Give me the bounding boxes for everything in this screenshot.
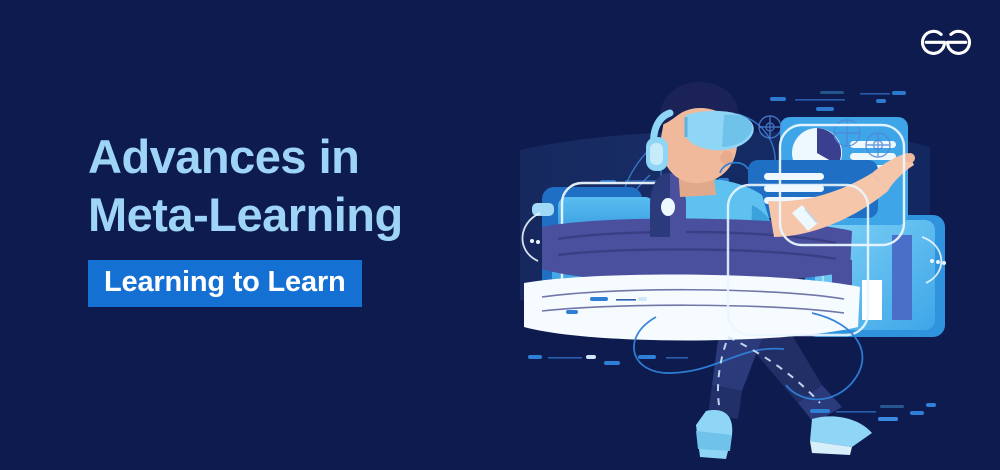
title-line-1: Advances in — [88, 128, 508, 186]
hero-illustration — [480, 55, 990, 465]
banner: Advances in Meta-Learning Learning to Le… — [0, 0, 1000, 470]
illustration-svg — [480, 55, 990, 465]
device-white — [524, 274, 860, 340]
headline-block: Advances in Meta-Learning Learning to Le… — [88, 128, 508, 307]
subtitle-badge: Learning to Learn — [88, 260, 362, 307]
title-line-2: Meta-Learning — [88, 186, 508, 244]
